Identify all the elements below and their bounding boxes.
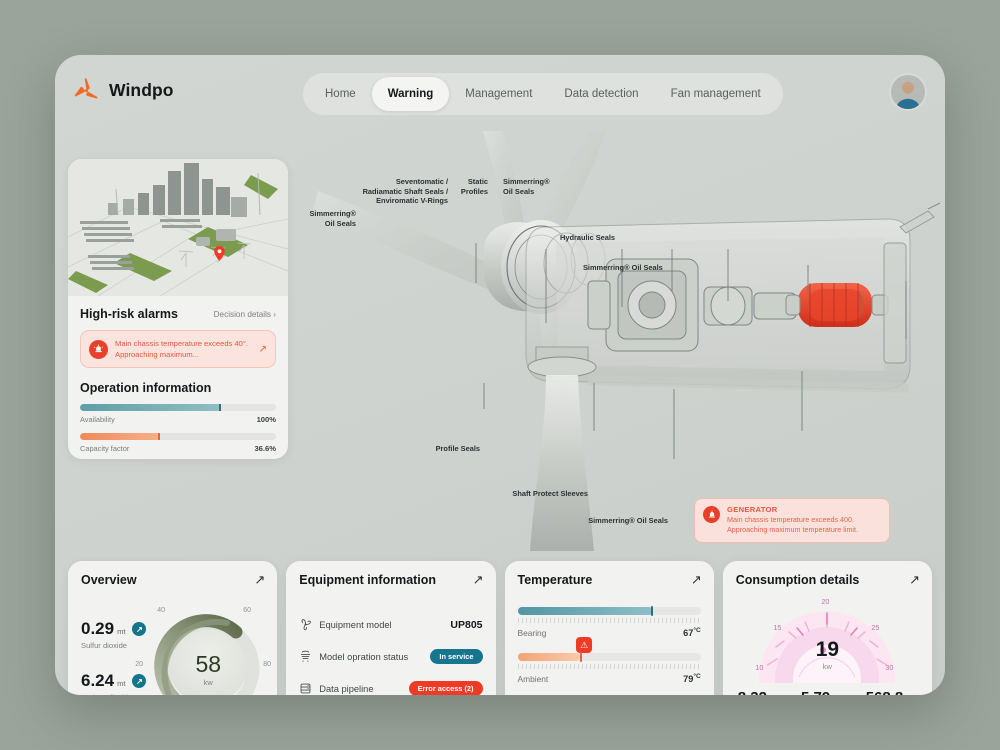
site-map-illustration-icon (68, 159, 288, 296)
equipment-rows: Equipment model UP805 Model opration sta… (299, 613, 482, 695)
equipment-row-status[interactable]: Model opration status In service (299, 645, 482, 668)
consumption-tick-20: 20 (821, 597, 829, 606)
operation-info-title: Operation information (80, 381, 276, 395)
left-panel-card: High-risk alarms Decision details › (68, 159, 288, 459)
equipment-model-label: Equipment model (319, 620, 450, 630)
avatar[interactable] (889, 73, 927, 111)
equipment-model-value: UP805 (450, 619, 482, 631)
bearing-ruler (518, 618, 701, 624)
consumption-expand-icon[interactable]: ↗ (909, 572, 920, 588)
capacity-factor-label: Capacity factor (80, 444, 129, 453)
alarm-open-icon[interactable]: ↗ (259, 344, 267, 355)
annotation-static-profiles: Static Profiles (428, 177, 488, 196)
consumption-tick-15: 15 (773, 623, 781, 632)
power-gauge-readout: 58 kw (143, 653, 273, 687)
ambient-label: Ambient (518, 674, 549, 684)
ambient-ruler (518, 664, 701, 670)
alarm-item[interactable]: Main chassis temperature exceeds 40°. Ap… (80, 330, 276, 368)
equipment-information-card: Equipment information ↗ Equipment mod (286, 561, 495, 695)
equipment-pipeline-badge[interactable]: Error access (2) (409, 681, 483, 695)
brand-name: Windpo (109, 80, 174, 101)
equipment-row-model[interactable]: Equipment model UP805 (299, 613, 482, 636)
database-icon (299, 682, 312, 695)
capacity-factor-value: 36.6% (254, 444, 276, 453)
alarm-bell-icon (89, 340, 108, 359)
annotation-hydraulic-seals: Hydraulic Seals (560, 233, 650, 243)
carbon-dioxide-metric: 6.24 mt ↗ Carbon dioxide (81, 671, 146, 695)
equipment-pipeline-label: Data pipeline (319, 684, 408, 694)
gauge-tick-60: 60 (243, 607, 251, 614)
carbon-dioxide-label: Carbon dioxide (81, 693, 146, 695)
reactive-power-stat: -5.79kVar Reactive power (796, 689, 848, 695)
availability-bar[interactable] (80, 404, 276, 411)
temperature-title: Temperature (518, 573, 701, 587)
left-panel-body: High-risk alarms Decision details › (68, 296, 288, 459)
availability-metric: Availability 100% (80, 404, 276, 424)
annotation-simmerring-1: Simmerring® Oil Seals (503, 177, 573, 196)
gauge-tick-80: 80 (263, 661, 271, 668)
bearing-value: 67°C (683, 627, 701, 638)
consumption-gauge-readout: 19 kw (753, 639, 901, 671)
consumption-tick-30: 30 (885, 663, 893, 672)
layers-icon (299, 650, 312, 663)
consumption-tick-10: 10 (755, 663, 763, 672)
main-nav: Home Warning Management Data detection F… (303, 73, 783, 115)
temperature-row-ambient: ⚠ Ambient 79°C (518, 653, 701, 684)
carbon-dioxide-unit: mt (117, 679, 125, 688)
wind-turbine-logo-icon (73, 77, 100, 104)
annotation-profile-seals: Profile Seals (408, 444, 480, 454)
power-gauge-value: 58 (143, 653, 273, 676)
equipment-expand-icon[interactable]: ↗ (473, 572, 484, 588)
sulfur-dioxide-metric: 0.29 mt ↗ Sulfur dioxide (81, 619, 146, 650)
power-gauge[interactable]: 58 kw 0 20 40 60 80 100 (143, 601, 273, 695)
temperature-card: Temperature ↗ Bearing 67°C ⚠ (505, 561, 714, 695)
temperature-expand-icon[interactable]: ↗ (691, 572, 702, 588)
consumption-title: Consumption details (736, 573, 919, 587)
sulfur-dioxide-value: 0.29 (81, 619, 114, 639)
consumption-details-card: Consumption details ↗ (723, 561, 932, 695)
nav-item-data-detection[interactable]: Data detection (548, 77, 654, 111)
consumption-stats: -8.32kw Active power -5.79kVar Reactive … (733, 689, 922, 695)
generator-speed-value: 568.8 (866, 689, 904, 695)
carbon-dioxide-value: 6.24 (81, 671, 114, 691)
location-pin-icon (214, 246, 225, 261)
consumption-gauge-unit: kw (753, 662, 901, 671)
consumption-gauge-value: 19 (753, 639, 901, 660)
nav-item-fan-management[interactable]: Fan management (655, 77, 777, 111)
bearing-bar[interactable] (518, 607, 701, 615)
capacity-factor-metric: Capacity factor 36.6% (80, 433, 276, 453)
alarm-message: Main chassis temperature exceeds 40°. Ap… (115, 338, 252, 360)
bottom-cards: Overview ↗ 0.29 mt ↗ Sulfur dioxide 6.24… (68, 561, 932, 695)
capacity-factor-bar[interactable] (80, 433, 276, 440)
overview-expand-icon[interactable]: ↗ (254, 572, 265, 588)
equipment-row-pipeline[interactable]: Data pipeline Error access (2) (299, 677, 482, 695)
decision-details-link[interactable]: Decision details › (214, 310, 276, 319)
sulfur-dioxide-unit: mt (117, 627, 125, 636)
gauge-tick-20: 20 (135, 661, 143, 668)
gauge-tick-40: 40 (157, 607, 165, 614)
fan-icon (299, 618, 312, 631)
consumption-tick-25: 25 (871, 623, 879, 632)
annotation-simmerring-3: Simmerring® Oil Seals (583, 263, 703, 273)
alarms-title: High-risk alarms (80, 307, 178, 321)
ambient-bar[interactable] (518, 653, 701, 661)
user-avatar-icon (891, 75, 925, 109)
generator-alert[interactable]: GENERATOR Main chassis temperature excee… (694, 498, 890, 543)
sulfur-dioxide-label: Sulfur dioxide (81, 641, 146, 650)
turbine-diagram: Seventomatic / Radiamatic Shaft Seals / … (288, 131, 945, 551)
power-gauge-unit: kw (143, 678, 273, 687)
generator-speed-stat: 568.8rpm Generator speed (866, 689, 922, 695)
availability-value: 100% (257, 415, 276, 424)
annotation-shaft-protect-sleeves: Shaft Protect Sleeves (456, 489, 588, 499)
active-power-value: -8.32 (733, 689, 767, 695)
equipment-title: Equipment information (299, 573, 482, 587)
consumption-gauge[interactable]: 19 kw 10 15 20 25 30 (753, 597, 901, 683)
equipment-status-badge[interactable]: In service (430, 649, 482, 664)
app-window: Windpo Home Warning Management Data dete… (55, 55, 945, 695)
brand: Windpo (73, 77, 174, 104)
overview-title: Overview (81, 573, 264, 587)
annotation-simmerring-4: Simmerring® Oil Seals (518, 516, 668, 526)
reactive-power-value: -5.79 (796, 689, 830, 695)
nav-item-warning[interactable]: Warning (372, 77, 450, 111)
generator-alert-body: Main chassis temperature exceeds 400. Ap… (727, 515, 881, 536)
screen-root: Windpo Home Warning Management Data dete… (0, 0, 1000, 750)
active-power-stat: -8.32kw Active power (733, 689, 778, 695)
overview-card: Overview ↗ 0.29 mt ↗ Sulfur dioxide 6.24… (68, 561, 277, 695)
generator-alert-title: GENERATOR (727, 505, 881, 514)
equipment-status-label: Model opration status (319, 652, 430, 662)
nav-item-home[interactable]: Home (309, 77, 372, 111)
availability-label: Availability (80, 415, 115, 424)
alarms-header: High-risk alarms Decision details › (80, 307, 276, 321)
bearing-label: Bearing (518, 628, 547, 638)
nav-item-management[interactable]: Management (449, 77, 548, 111)
app-header: Windpo Home Warning Management Data dete… (55, 55, 945, 131)
alarm-bell-icon (703, 506, 720, 523)
decision-details-label: Decision details (214, 310, 271, 319)
temperature-row-bearing: Bearing 67°C (518, 607, 701, 638)
chevron-right-icon: › (273, 310, 276, 319)
site-map-thumbnail[interactable] (68, 159, 288, 296)
ambient-value: 79°C (683, 673, 701, 684)
ambient-warning-icon[interactable]: ⚠ (576, 637, 592, 653)
annotation-simmerring-2: Simmerring® Oil Seals (288, 209, 356, 228)
